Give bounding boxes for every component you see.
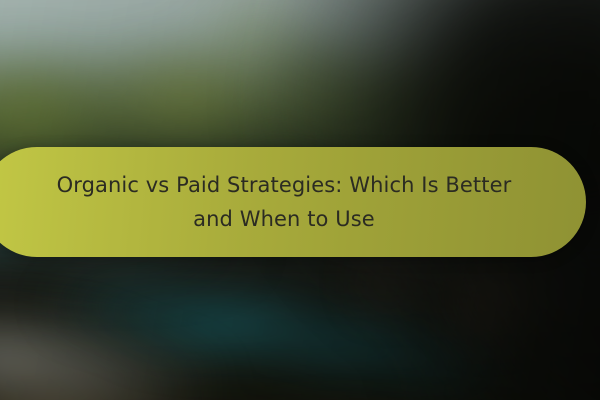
page-title: Organic vs Paid Strategies: Which Is Bet…	[11, 168, 558, 236]
banner-screenshot: Organic vs Paid Strategies: Which Is Bet…	[0, 0, 600, 400]
title-banner: Organic vs Paid Strategies: Which Is Bet…	[0, 147, 586, 257]
